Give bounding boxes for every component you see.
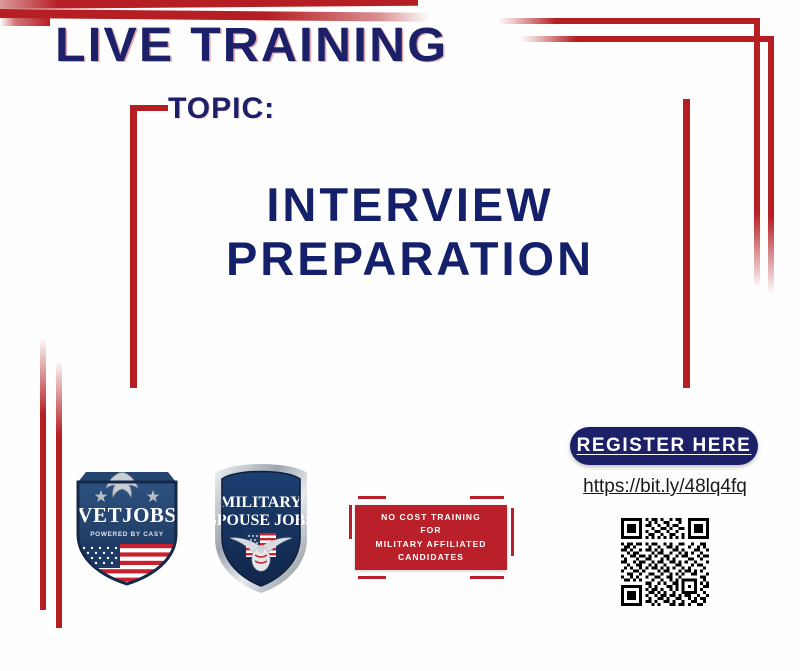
banner-line-1: NO COST TRAINING <box>376 511 487 524</box>
banner-line-3: MILITARY AFFILIATED <box>376 538 487 551</box>
vetjobs-logo: VETJOBS POWERED BY CASY <box>68 460 186 588</box>
qr-code[interactable] <box>621 518 709 606</box>
banner-decor-bottom-right <box>470 576 504 579</box>
poster-canvas: LIVE TRAINING TOPIC: INTERVIEW PREPARATI… <box>0 0 800 671</box>
svg-text:SPOUSE JOBS: SPOUSE JOBS <box>208 512 314 529</box>
banner-decor-left <box>349 505 352 539</box>
svg-text:VETJOBS: VETJOBS <box>77 503 176 527</box>
register-url-link[interactable]: https://bit.ly/48lq4fq <box>570 476 760 498</box>
frame-top-right-line-inner-horizontal <box>520 36 774 42</box>
banner-decor-top-right <box>470 496 504 499</box>
register-here-button[interactable]: REGISTER HERE <box>570 427 758 465</box>
banner-decor-right <box>511 508 514 556</box>
svg-text:POWERED BY CASY: POWERED BY CASY <box>90 531 164 538</box>
banner-line-2: FOR <box>376 524 487 537</box>
banner-line-4: CANDIDATES <box>376 551 487 564</box>
banner-decor-top-left <box>358 496 386 499</box>
frame-top-right-line-outer-vertical <box>754 18 760 288</box>
page-title: LIVE TRAINING <box>55 18 448 73</box>
banner-decor-bottom-left <box>358 576 386 579</box>
topic-title-line-1: INTERVIEW <box>137 178 683 232</box>
frame-bottom-left-line-inner-vertical <box>56 360 62 628</box>
svg-text:MILITARY: MILITARY <box>220 494 302 511</box>
frame-top-right-line-inner-vertical <box>768 36 774 294</box>
no-cost-training-banner: NO COST TRAINING FOR MILITARY AFFILIATED… <box>355 505 507 570</box>
frame-top-right-line-outer-horizontal <box>498 18 760 24</box>
military-spouse-jobs-logo: MILITARY SPOUSE JOBS <box>205 455 317 593</box>
topic-frame-top-edge <box>0 0 418 9</box>
topic-frame-bottom-stub <box>0 18 50 26</box>
topic-label: TOPIC: <box>168 92 275 126</box>
topic-title-line-2: PREPARATION <box>137 232 683 286</box>
topic-frame-right-edge <box>683 99 690 388</box>
topic-frame-top-stub <box>130 105 168 111</box>
frame-bottom-left-line-outer-vertical <box>40 338 46 610</box>
banner-text: NO COST TRAINING FOR MILITARY AFFILIATED… <box>376 511 487 565</box>
topic-title: INTERVIEW PREPARATION <box>137 178 683 285</box>
register-here-label: REGISTER HERE <box>577 435 752 457</box>
topic-frame-left-edge <box>130 105 137 388</box>
